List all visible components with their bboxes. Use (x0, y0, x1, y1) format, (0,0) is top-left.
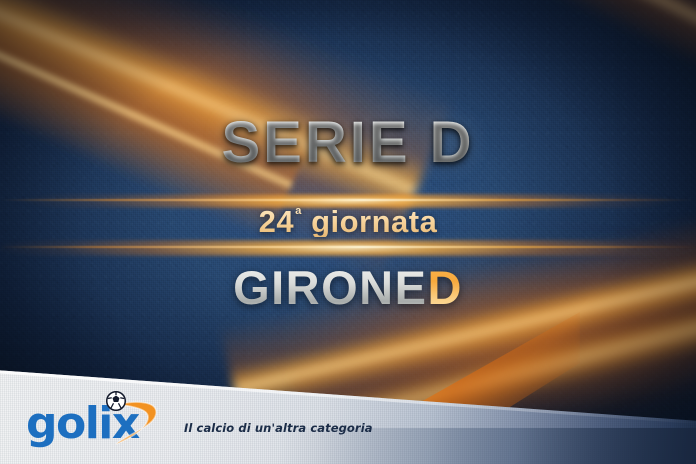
brand-tagline: Il calcio di un'altra categoria (184, 421, 373, 444)
brand-logo-block[interactable]: golix Il calcio di un'altra categoria (26, 392, 373, 444)
soccer-ball-icon (106, 391, 126, 411)
logo-mark[interactable]: golix (26, 392, 166, 444)
serie-d-matchday-graphic: SERIE D 24ª giornata GIRONED golix (0, 0, 696, 464)
